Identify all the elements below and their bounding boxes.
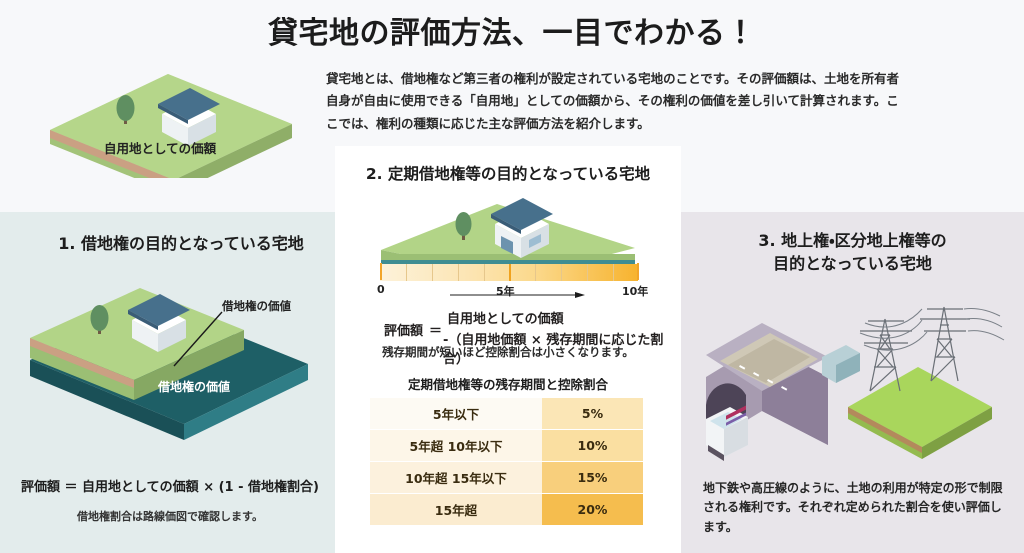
- timeline-tick: [587, 264, 588, 281]
- section3-heading-line2: 目的となっている宅地: [700, 253, 1005, 276]
- table-row: 5年以下 5%: [370, 398, 643, 430]
- timeline-tick: [561, 264, 562, 281]
- formula-line-1: 自用地としての価額: [447, 308, 564, 327]
- section3-body-text: 地下鉄や高圧線のように、土地の利用が特定の形で制限される権利です。それぞれ定めら…: [703, 479, 1013, 537]
- timeline: 0 5年 10年: [358, 264, 658, 304]
- period-cell: 15年超: [370, 494, 542, 526]
- timeline-tick: [406, 264, 407, 281]
- intro-paragraph: 貸宅地とは、借地権など第三者の権利が設定されている宅地のことです。その評価額は、…: [326, 68, 906, 135]
- jiyouchi-illustration: [40, 58, 300, 178]
- period-cell: 10年超 15年以下: [370, 462, 542, 494]
- section3-heading-line1: 3. 地上権・区分地上権等の: [700, 230, 1005, 253]
- powerline-land-icon: [848, 367, 992, 459]
- infographic-canvas: 貸宅地の評価方法、一目でわかる！ 貸宅地とは、借地権など第三者の権利が設定されて…: [0, 0, 1024, 553]
- section3-heading: 3. 地上権・区分地上権等の 目的となっている宅地: [700, 230, 1005, 275]
- table-row: 15年超 20%: [370, 494, 643, 526]
- ratio-table-body: 5年以下 5% 5年超 10年以下 10% 10年超 15年以下 15% 15年…: [370, 398, 643, 525]
- table-row: 5年超 10年以下 10%: [370, 430, 643, 462]
- timeline-tick: [613, 264, 614, 281]
- ratio-table-title: 定期借地権等の残存期間と控除割合: [335, 374, 681, 393]
- section1-formula: 評価額 ＝ 自用地としての価額 × (1 - 借地権割合): [10, 476, 330, 495]
- formula-equals-sign: ＝: [429, 320, 442, 339]
- timeline-start-cap: [380, 263, 382, 280]
- section1-illustration: [22, 268, 322, 458]
- section2-note: 残存期間が短いほど控除割合は小さくなります。: [335, 344, 681, 360]
- timeline-tick: [535, 264, 536, 281]
- table-row: 10年超 15年以下 15%: [370, 462, 643, 494]
- timeline-start-label: 0: [377, 283, 385, 296]
- transmission-tower-icon: [920, 307, 970, 381]
- timeline-end-cap: [637, 263, 639, 280]
- page-title: 貸宅地の評価方法、一目でわかる！: [0, 8, 1024, 52]
- timeline-end-label: 10年: [622, 283, 648, 299]
- period-cell: 5年超 10年以下: [370, 430, 542, 462]
- timeline-tick: [432, 264, 433, 281]
- jiyouchi-label: 自用地としての価額: [104, 138, 216, 157]
- leasehold-slab-label: 借地権の価値: [158, 378, 230, 395]
- subway-tunnel-icon: [706, 323, 860, 461]
- timeline-mid-tick: [509, 264, 511, 281]
- timeline-tick: [484, 264, 485, 281]
- period-cell: 5年以下: [370, 398, 542, 430]
- timeline-range-arrow: [450, 291, 585, 299]
- section3-illustration: [700, 295, 1010, 470]
- rate-cell: 5%: [542, 398, 643, 430]
- leasehold-callout-label: 借地権の価値: [222, 298, 291, 314]
- rate-cell: 10%: [542, 430, 643, 462]
- deduction-ratio-table: 5年以下 5% 5年超 10年以下 10% 10年超 15年以下 15% 15年…: [370, 398, 643, 525]
- power-cables: [860, 308, 1004, 350]
- rate-cell: 20%: [542, 494, 643, 526]
- rate-cell: 15%: [542, 462, 643, 494]
- section2-heading: 2. 定期借地権等の目的となっている宅地: [335, 162, 681, 184]
- section1-heading: 1. 借地権の目的となっている宅地: [36, 230, 326, 254]
- section1-note: 借地権割合は路線価図で確認します。: [10, 508, 330, 524]
- formula-left-term: 評価額: [345, 320, 423, 339]
- section2-card: 2. 定期借地権等の目的となっている宅地: [335, 146, 681, 553]
- timeline-tick: [458, 264, 459, 281]
